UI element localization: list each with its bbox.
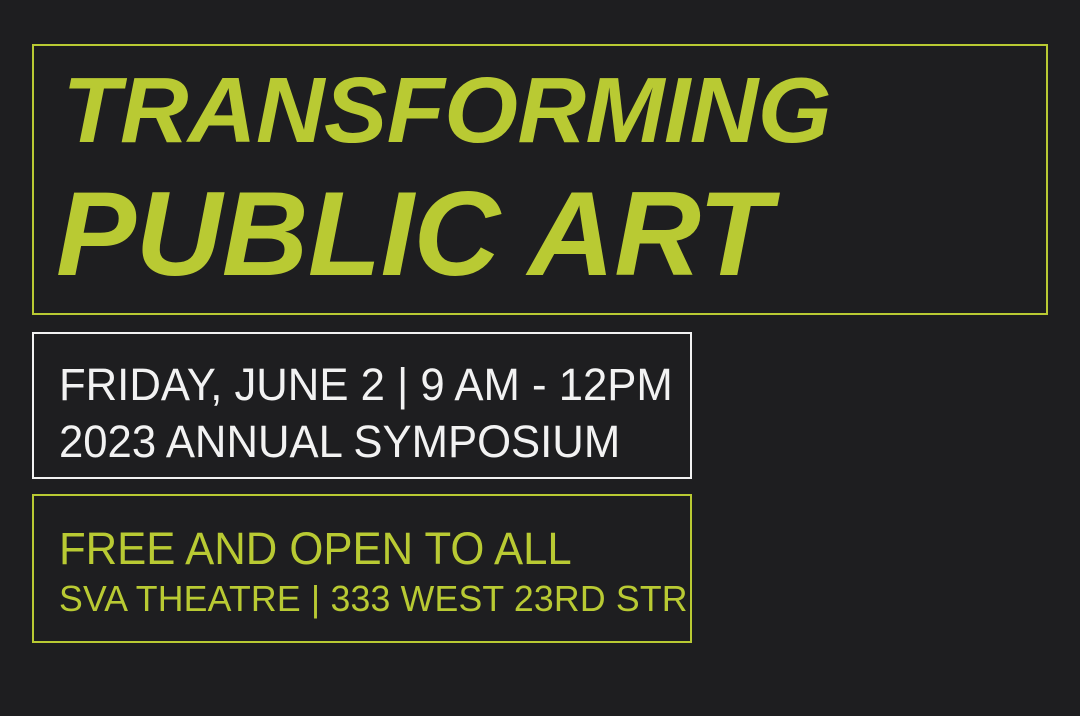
poster-title-line-1: TRANSFORMING	[34, 64, 1048, 157]
venue-address: SVA THEATRE | 333 WEST 23RD STREET	[59, 581, 692, 617]
poster-title-line-2: PUBLIC ART	[34, 174, 1048, 294]
event-subtitle: 2023 ANNUAL SYMPOSIUM	[59, 419, 620, 464]
venue-panel: FREE AND OPEN TO ALL SVA THEATRE | 333 W…	[32, 494, 692, 643]
event-date-time: FRIDAY, JUNE 2 | 9 AM - 12PM	[59, 362, 673, 407]
date-panel: FRIDAY, JUNE 2 | 9 AM - 12PM 2023 ANNUAL…	[32, 332, 692, 479]
title-panel: TRANSFORMING PUBLIC ART	[32, 44, 1048, 315]
event-poster: TRANSFORMING PUBLIC ART FRIDAY, JUNE 2 |…	[0, 0, 1080, 716]
admission-note: FREE AND OPEN TO ALL	[59, 526, 572, 571]
